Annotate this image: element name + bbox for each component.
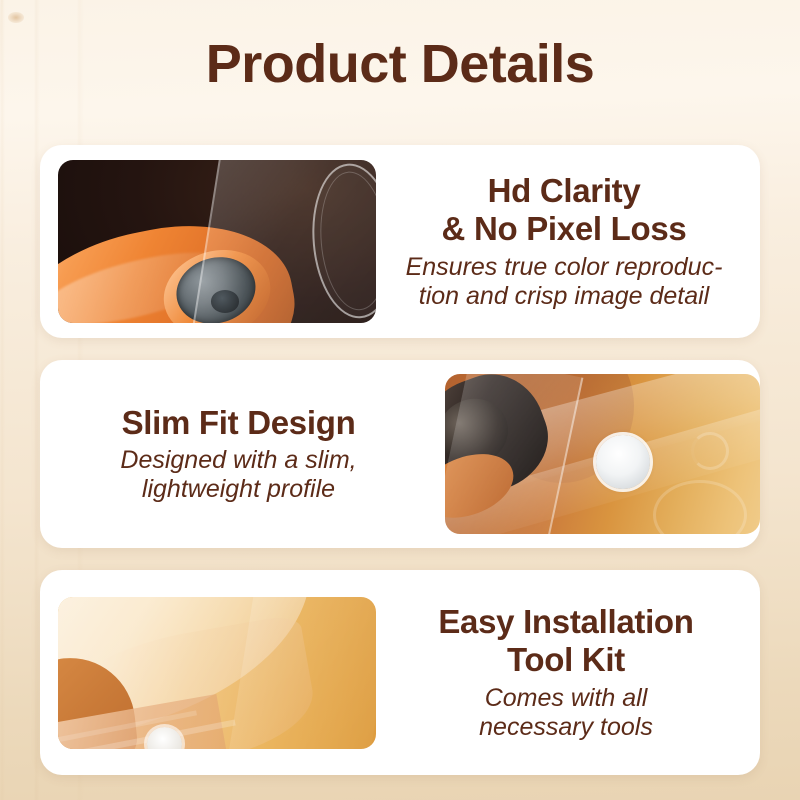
feature-heading: Slim Fit Design — [50, 404, 427, 442]
feature-card-slim-fit-design: Slim Fit Design Designed with a slim, li… — [40, 360, 760, 548]
phone-logo-mark — [691, 432, 729, 470]
feature-image-slim-fit-design — [445, 374, 760, 534]
feature-card-easy-installation: Easy Installation Tool Kit Comes with al… — [40, 570, 760, 775]
feature-text-slim-fit-design: Slim Fit Design Designed with a slim, li… — [40, 404, 433, 505]
feature-image-easy-installation — [58, 597, 376, 749]
product-details-page: Product Details Hd Clarity & No Pixel Lo… — [0, 0, 800, 800]
feature-subtitle: Designed with a slim, lightweight profil… — [50, 446, 427, 504]
page-title: Product Details — [0, 36, 800, 93]
glass-protector-amber-illustration — [58, 597, 376, 749]
glass-protector-sheet — [193, 160, 376, 323]
wood-knot-mark — [8, 12, 24, 23]
feature-subtitle: Ensures true color reproduc- tion and cr… — [382, 253, 746, 311]
feature-image-hd-clarity — [58, 160, 376, 323]
camera-flash-light — [596, 435, 650, 489]
protector-lens-cutout — [306, 161, 376, 322]
feature-text-hd-clarity: Hd Clarity & No Pixel Loss Ensures true … — [376, 172, 760, 310]
feature-card-hd-clarity: Hd Clarity & No Pixel Loss Ensures true … — [40, 145, 760, 338]
feature-heading: Easy Installation Tool Kit — [382, 603, 750, 678]
feature-text-easy-installation: Easy Installation Tool Kit Comes with al… — [376, 603, 760, 741]
feature-subtitle: Comes with all necessary tools — [382, 684, 750, 742]
phone-logo-arc — [653, 480, 747, 534]
feature-heading: Hd Clarity & No Pixel Loss — [382, 172, 746, 247]
protector-glass-sheet — [229, 597, 376, 749]
phone-back-camera-illustration — [445, 374, 760, 534]
camera-lens-protector-illustration — [58, 160, 376, 323]
